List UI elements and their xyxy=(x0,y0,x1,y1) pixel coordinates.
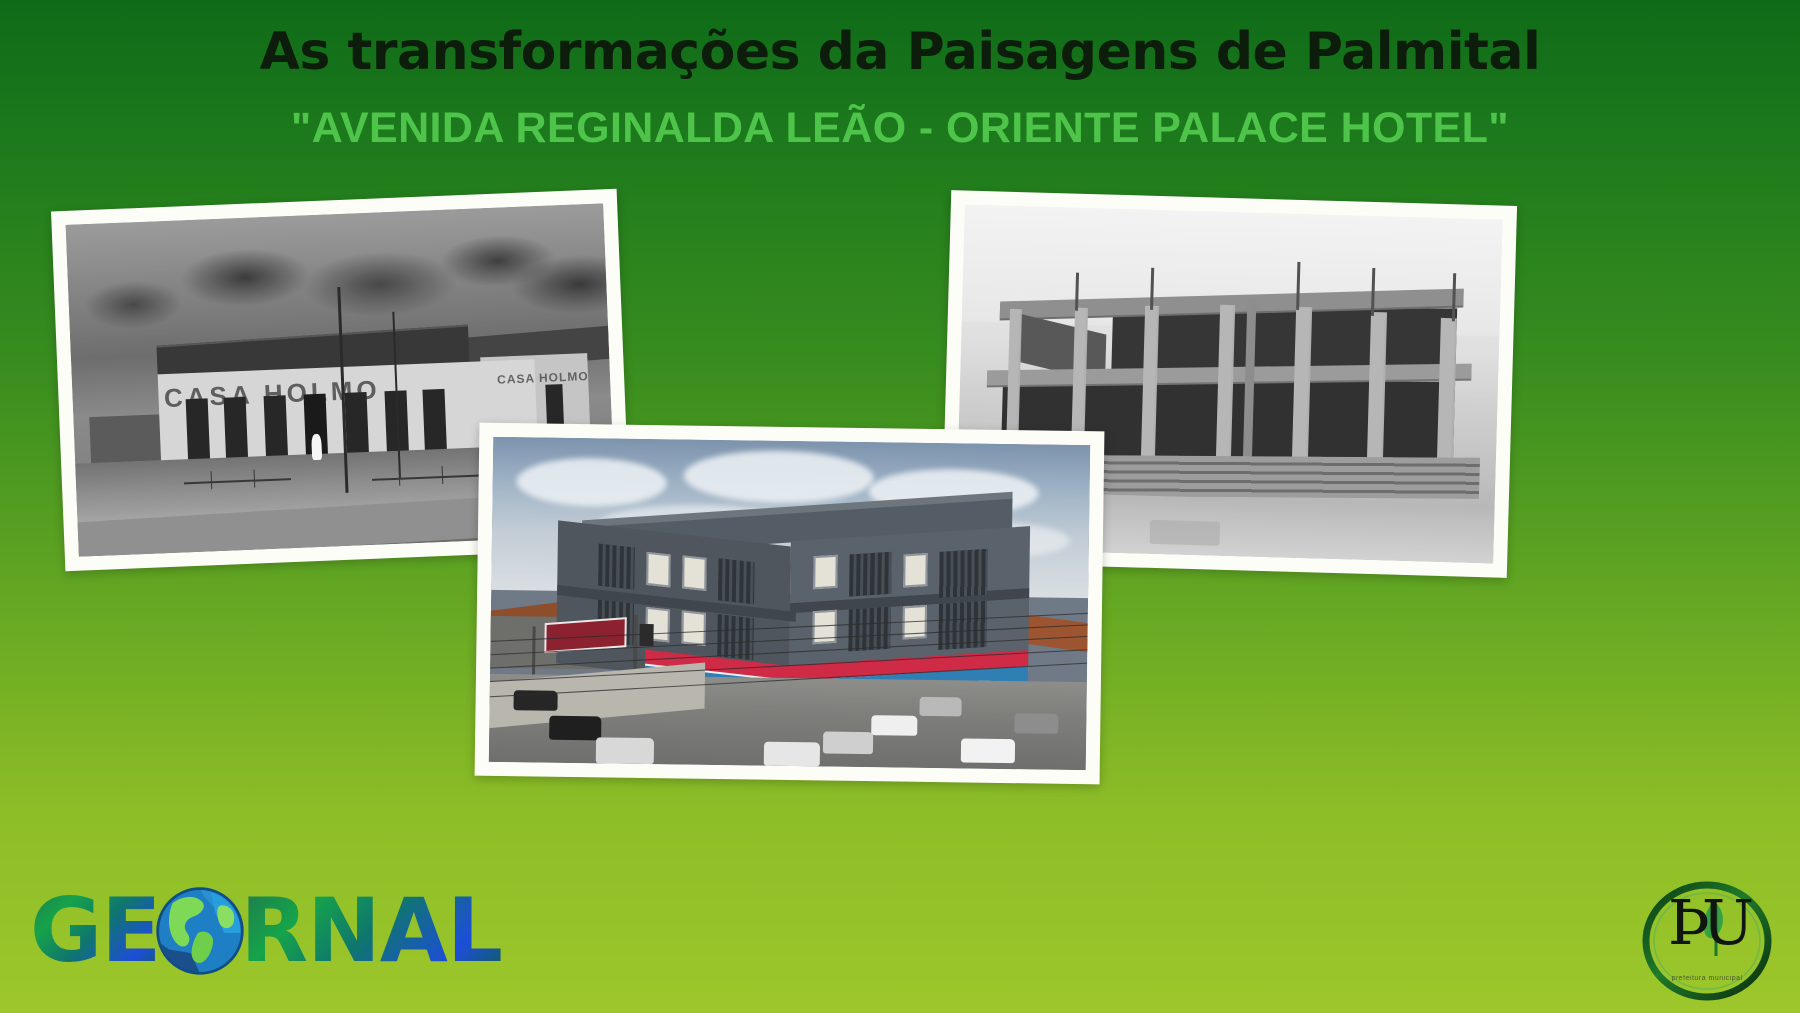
page-subtitle: "AVENIDA REGINALDA LEÃO - ORIENTE PALACE… xyxy=(0,104,1800,153)
photo-frame-modern-hotel xyxy=(475,423,1105,785)
slide-canvas: As transformações da Paisagens de Palmit… xyxy=(0,0,1800,1013)
overhead-wires-icon xyxy=(489,437,1090,770)
geornal-logo-text-after: RNAL xyxy=(240,887,502,975)
monogram-subtext: prefeitura municipal xyxy=(1638,975,1776,982)
globe-icon xyxy=(154,885,246,977)
monogram-letters: ÞU xyxy=(1638,886,1776,959)
page-title: As transformações da Paisagens de Palmit… xyxy=(0,22,1800,82)
monogram-logo: ÞU prefeitura municipal xyxy=(1638,878,1776,1004)
geornal-logo: GE RNAL xyxy=(30,872,502,990)
photo-modern-hotel xyxy=(489,437,1090,770)
geornal-logo-text-before: GE xyxy=(30,887,160,975)
